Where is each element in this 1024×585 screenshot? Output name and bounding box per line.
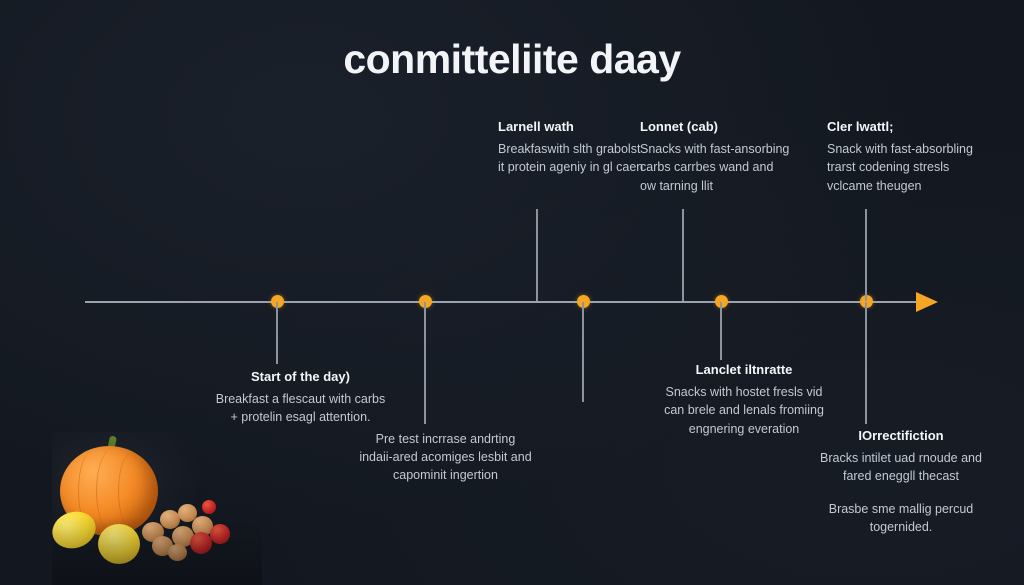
block-above-3-heading: Cler lwattl; xyxy=(827,119,979,135)
timeline-block-above-1: Larnell wath Breakfaswith slth grabolst … xyxy=(498,119,650,177)
connector-down-5 xyxy=(865,302,867,424)
connector-down-4 xyxy=(720,302,722,360)
block-below-1-body: Breakfast a flescaut with carbs + protel… xyxy=(213,390,388,426)
timeline-block-below-1: Start of the day) Breakfast a flescaut w… xyxy=(213,369,388,427)
nut-icon-7 xyxy=(168,544,187,561)
connector-down-1 xyxy=(276,302,278,364)
block-below-3-body: Snacks with hostet fresls vid can brele … xyxy=(655,383,833,437)
connector-up-3 xyxy=(865,209,867,301)
block-above-1-heading: Larnell wath xyxy=(498,119,650,135)
block-below-3-heading: Lanclet iltnratte xyxy=(655,362,833,378)
produce-photo xyxy=(52,432,262,585)
timeline-axis xyxy=(85,301,923,303)
block-above-3-body: Snack with fast-absorbling trarst codeni… xyxy=(827,140,979,194)
block-below-4-body-2: Brasbe sme mallig percud togernided. xyxy=(812,500,990,536)
block-below-4-body-1: Bracks intilet uad rnoude and fared eneg… xyxy=(812,449,990,485)
timeline-block-below-4: IOrrectifiction Bracks intilet uad rnoud… xyxy=(812,428,990,536)
infographic-canvas: conmitteliite daay Larnell wath Breakfas… xyxy=(0,0,1024,585)
timeline-block-below-3: Lanclet iltnratte Snacks with hostet fre… xyxy=(655,362,833,438)
timeline-block-below-2: Pre test incrrase andrting indaii-ared a… xyxy=(358,430,533,484)
block-below-4-heading: IOrrectifiction xyxy=(812,428,990,444)
red-berry-icon-2 xyxy=(210,524,230,544)
page-title: conmitteliite daay xyxy=(0,36,1024,83)
red-berry-icon-3 xyxy=(202,500,216,514)
block-below-2-body: Pre test incrrase andrting indaii-ared a… xyxy=(358,430,533,484)
nut-icon-2 xyxy=(160,510,180,529)
connector-down-2 xyxy=(424,302,426,424)
timeline-block-above-3: Cler lwattl; Snack with fast-absorbling … xyxy=(827,119,979,195)
block-above-1-body: Breakfaswith slth grabolst it protein ag… xyxy=(498,140,650,176)
connector-up-1 xyxy=(536,209,538,301)
block-above-2-body: Snacks with fast-ansorbing carbs carrbes… xyxy=(640,140,792,194)
connector-up-2 xyxy=(682,209,684,301)
yellow-fruit-icon-2 xyxy=(98,524,140,564)
timeline-block-above-2: Lonnet (cab) Snacks with fast-ansorbing … xyxy=(640,119,792,195)
connector-down-3 xyxy=(582,302,584,402)
red-berry-icon-1 xyxy=(190,532,212,554)
timeline-arrow-icon xyxy=(916,292,938,312)
block-below-1-heading: Start of the day) xyxy=(213,369,388,385)
block-above-2-heading: Lonnet (cab) xyxy=(640,119,792,135)
